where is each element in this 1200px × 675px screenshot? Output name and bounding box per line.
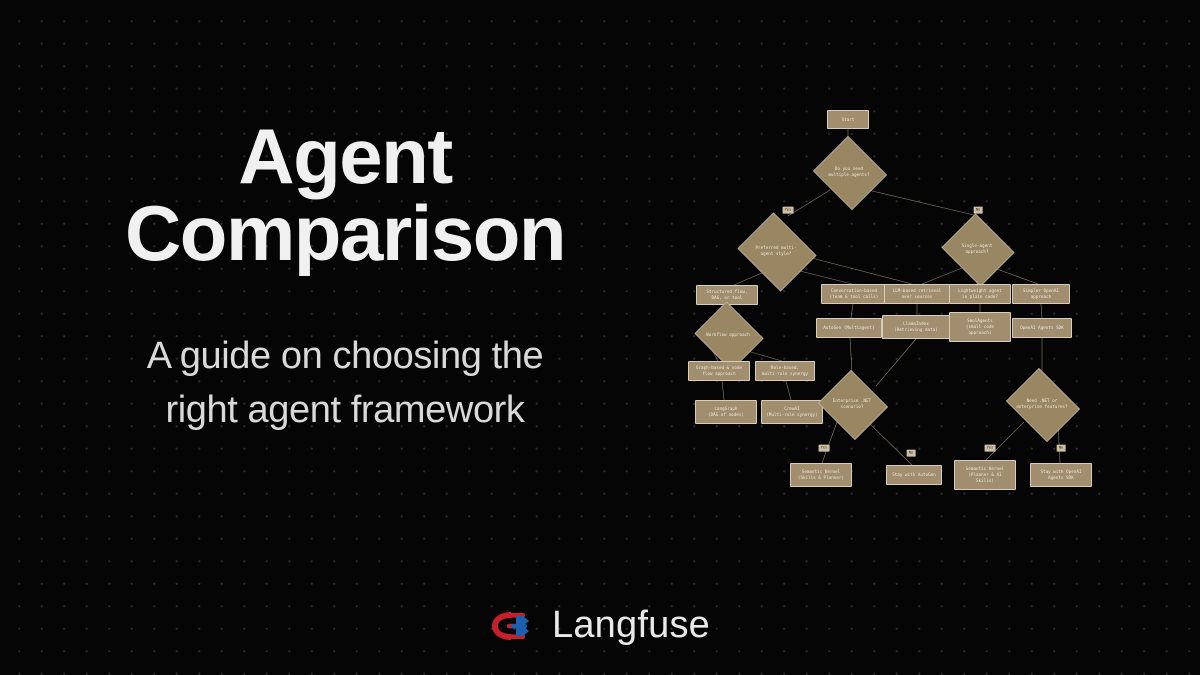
edge-label-no: No xyxy=(1057,445,1066,452)
flow-decision-q-dotnet-1[interactable]: Enterprise .NET scenario? xyxy=(816,372,888,436)
flow-decision-q-workflow[interactable]: Workflow approach xyxy=(692,304,764,366)
edge-label-yes: Yes xyxy=(819,445,830,452)
flow-node-crewai[interactable]: CrewAI (Multi-role synergy) xyxy=(761,400,823,424)
flow-node-role-synergy[interactable]: Role-based, multi-role synergy xyxy=(755,361,815,381)
flow-decision-label: Preferred multi- agent style? xyxy=(734,216,818,286)
flow-edge xyxy=(786,381,791,400)
langfuse-logo-icon xyxy=(490,609,536,643)
flow-edge xyxy=(1041,304,1042,318)
decision-flowchart: StartDo you need multiple agents?Preferr… xyxy=(672,96,1172,516)
flow-node-simpler[interactable]: Simpler OpenAI approach xyxy=(1012,284,1070,304)
flow-node-sk-skills[interactable]: Semantic Kernel (Skills & Planner) xyxy=(790,463,852,487)
flow-decision-q-dotnet-2[interactable]: Need .NET or enterprise features? xyxy=(1002,372,1082,436)
flow-node-light-code[interactable]: Lightweight agent in plain code? xyxy=(949,284,1011,304)
edge-label-no: No xyxy=(974,207,983,214)
flow-node-stay-openai[interactable]: Stay with OpenAI Agents SDK xyxy=(1030,463,1092,487)
brand-name: Langfuse xyxy=(552,604,710,647)
flow-node-graph-style[interactable]: Graph-based & node flow approach xyxy=(688,361,750,381)
flow-node-langgraph[interactable]: LangGraph (DAG of nodes) xyxy=(695,400,757,424)
flow-node-smolagents[interactable]: SmolAgents (small code approach) xyxy=(949,312,1011,342)
flow-edge xyxy=(722,381,724,400)
edge-label-yes: Yes xyxy=(985,445,996,452)
flow-decision-q-style[interactable]: Preferred multi- agent style? xyxy=(734,216,818,286)
brand-lockup: Langfuse xyxy=(0,604,1200,647)
flow-node-autogen[interactable]: AutoGen (Multiagent) xyxy=(816,318,882,338)
flow-decision-label: Workflow approach xyxy=(692,304,764,366)
flow-decision-label: Enterprise .NET scenario? xyxy=(816,372,888,436)
edge-label-yes: Yes xyxy=(783,207,794,214)
flow-node-start[interactable]: Start xyxy=(827,110,869,129)
page-title: Agent Comparison xyxy=(0,118,690,272)
flow-decision-label: Do you need multiple agents? xyxy=(811,138,887,206)
flow-decision-label: Need .NET or enterprise features? xyxy=(1002,372,1082,436)
hero-section: Agent Comparison A guide on choosing the… xyxy=(0,118,690,438)
flow-decision-q-multi[interactable]: Do you need multiple agents? xyxy=(811,138,887,206)
flow-node-llamaindex[interactable]: LlamaIndex (Retrieving data) xyxy=(882,315,950,339)
page-subtitle: A guide on choosing the right agent fram… xyxy=(0,330,690,438)
flow-node-openai-sdk[interactable]: OpenAI Agents SDK xyxy=(1012,318,1072,338)
flow-node-sk-planner[interactable]: Semantic Kernel (Planner & AI Skills) xyxy=(954,460,1016,490)
flow-edge xyxy=(850,338,852,372)
flow-edge xyxy=(851,304,853,318)
slide-canvas: Agent Comparison A guide on choosing the… xyxy=(0,0,1200,675)
flow-node-llm-data[interactable]: LLM-based retrieval over sources xyxy=(884,284,950,304)
edge-label-no: No xyxy=(907,450,916,457)
flow-decision-single[interactable]: Single-agent approach? xyxy=(939,216,1015,282)
flow-node-stay-autogen[interactable]: Stay with AutoGen xyxy=(886,465,942,485)
flow-decision-label: Single-agent approach? xyxy=(939,216,1015,282)
flow-edge xyxy=(804,256,912,284)
flow-node-conv-team[interactable]: Conversation-based (team & tool calls) xyxy=(821,284,887,304)
